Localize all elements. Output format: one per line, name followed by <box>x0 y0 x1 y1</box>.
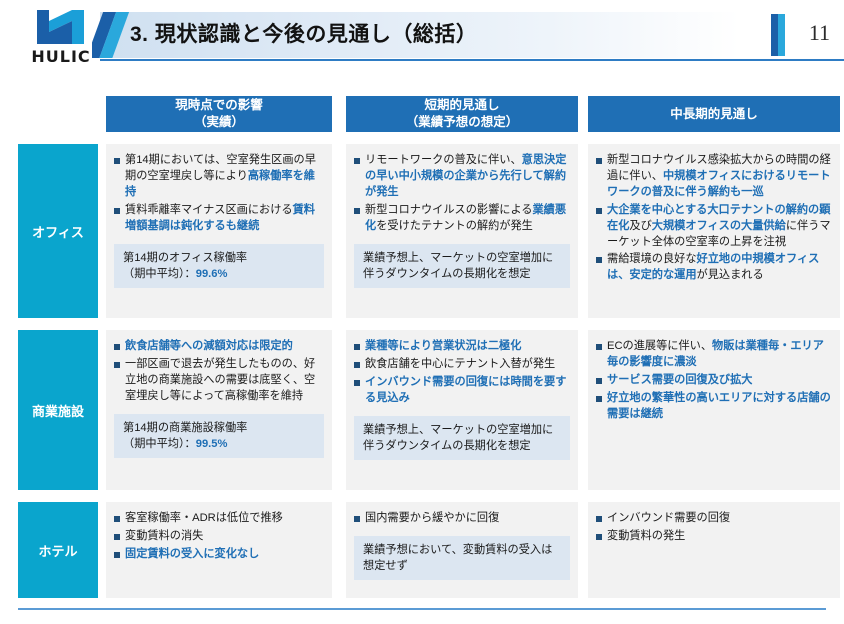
note-text: 業績予想上、マーケットの空室増加に伴うダウンタイムの長期化を想定 <box>363 424 553 452</box>
note-text: 業績予想上、マーケットの空室増加に伴うダウンタイムの長期化を想定 <box>363 252 553 280</box>
bullet-item: インバウンド需要の回復には時間を要する見込み <box>354 375 570 407</box>
row-label-commercial: 商業施設 <box>18 330 98 490</box>
bullet-item: 業種等により営業状況は二極化 <box>354 339 570 355</box>
highlighted-text: 飲食店舗等への減額対応は限定的 <box>125 340 293 352</box>
highlighted-text: 好立地の繁華性の高いエリアに対する店舗の需要は継続 <box>607 392 831 420</box>
bullet-item: 固定賃料の受入に変化なし <box>114 547 324 563</box>
bullet-item: 大企業を中心とする大口テナントの解約の顕在化及び大規模オフィスの大量供給に伴うマ… <box>596 203 832 251</box>
column-header-current-impact: 現時点での影響 （実績） <box>106 96 332 132</box>
bullet-list: 業種等により営業状況は二極化飲食店舗を中心にテナント入替が発生インバウンド需要の… <box>354 339 570 407</box>
body-text: 変動賃料の消失 <box>125 530 203 542</box>
bullet-item: ECの進展等に伴い、物販は業種毎・エリア毎の影響度に濃淡 <box>596 339 832 371</box>
bullet-item: リモートワークの普及に伴い、意思決定の早い中小規模の企業から先行して解約が発生 <box>354 153 570 201</box>
hulic-h-mark-icon <box>36 8 86 46</box>
note-text: 第14期のオフィス稼働率 <box>123 252 247 264</box>
bullet-item: 変動賃料の消失 <box>114 529 324 545</box>
page-number: 11 <box>809 20 830 46</box>
body-text: 賃料乖離率マイナス区画における <box>125 204 293 216</box>
column-header-line1: 現時点での影響 <box>175 97 263 114</box>
body-text: 客室稼働率・ADRは低位で推移 <box>125 512 283 524</box>
bullet-list: 飲食店舗等への減額対応は限定的一部区画で退去が発生したものの、好立地の商業施設へ… <box>114 339 324 405</box>
bullet-item: 客室稼働率・ADRは低位で推移 <box>114 511 324 527</box>
callout-note: 業績予想上、マーケットの空室増加に伴うダウンタイムの長期化を想定 <box>354 416 570 460</box>
callout-note: 業績予想上、マーケットの空室増加に伴うダウンタイムの長期化を想定 <box>354 244 570 288</box>
highlighted-text: インバウンド需要の回復には時間を要する見込み <box>365 376 566 404</box>
slide-header: HULIC 3. 現状認識と今後の見通し（総括） 11 <box>0 0 844 78</box>
bullet-item: 国内需要から緩やかに回復 <box>354 511 570 527</box>
body-text: 変動賃料の発生 <box>607 530 685 542</box>
note-text: （期中平均）： <box>123 268 196 280</box>
table-cell: 新型コロナウイルス感染拡大からの時間の経過に伴い、中規模オフィスにおけるリモート… <box>588 144 840 318</box>
bullet-item: 飲食店舗を中心にテナント入替が発生 <box>354 357 570 373</box>
column-header-short-term: 短期的見通し （業績予想の想定） <box>346 96 578 132</box>
callout-note: 業績予想において、変動賃料の受入は想定せず <box>354 536 570 580</box>
table-cell: 飲食店舗等への減額対応は限定的一部区画で退去が発生したものの、好立地の商業施設へ… <box>106 330 332 490</box>
table-cell: 第14期においては、空室発生区画の早期の空室埋戻し等により高稼働率を維持賃料乖離… <box>106 144 332 318</box>
bullet-item: 新型コロナウイルスの影響による業績悪化を受けたテナントの解約が発生 <box>354 203 570 235</box>
table-cell: 客室稼働率・ADRは低位で推移変動賃料の消失固定賃料の受入に変化なし <box>106 502 332 598</box>
bullet-item: 変動賃料の発生 <box>596 529 832 545</box>
occupancy-rate-value: 99.5% <box>196 438 228 450</box>
occupancy-rate-value: 99.6% <box>196 268 228 280</box>
highlighted-text: サービス需要の回復及び拡大 <box>607 374 752 386</box>
bullet-list: リモートワークの普及に伴い、意思決定の早い中小規模の企業から先行して解約が発生新… <box>354 153 570 235</box>
bullet-item: インバウンド需要の回復 <box>596 511 832 527</box>
table-cell: 国内需要から緩やかに回復業績予想において、変動賃料の受入は想定せず <box>346 502 578 598</box>
table-cell: ECの進展等に伴い、物販は業種毎・エリア毎の影響度に濃淡サービス需要の回復及び拡… <box>588 330 840 490</box>
highlighted-text: 業種等により営業状況は二極化 <box>365 340 521 352</box>
bullet-item: 新型コロナウイルス感染拡大からの時間の経過に伴い、中規模オフィスにおけるリモート… <box>596 153 832 201</box>
note-text: 第14期の商業施設稼働率 <box>123 422 247 434</box>
body-text: が見込まれる <box>697 269 764 281</box>
body-text: インバウンド需要の回復 <box>607 512 730 524</box>
callout-note: 第14期の商業施設稼働率（期中平均）：99.5% <box>114 414 324 458</box>
highlighted-text: 大規模オフィスの大量供給 <box>652 220 786 232</box>
bullet-item: 飲食店舗等への減額対応は限定的 <box>114 339 324 355</box>
bullet-list: 新型コロナウイルス感染拡大からの時間の経過に伴い、中規模オフィスにおけるリモート… <box>596 153 832 284</box>
body-text: を受けたテナントの解約が発生 <box>376 220 533 232</box>
bullet-item: 一部区画で退去が発生したものの、好立地の商業施設への需要は底堅く、空室埋戻し等に… <box>114 357 324 405</box>
hulic-logo-text: HULIC <box>22 47 100 66</box>
row-label-office: オフィス <box>18 144 98 318</box>
bullet-list: 客室稼働率・ADRは低位で推移変動賃料の消失固定賃料の受入に変化なし <box>114 511 324 563</box>
bullet-item: 第14期においては、空室発生区画の早期の空室埋戻し等により高稼働率を維持 <box>114 153 324 201</box>
table-cell: リモートワークの普及に伴い、意思決定の早い中小規模の企業から先行して解約が発生新… <box>346 144 578 318</box>
body-text: 需給環境の良好な <box>607 253 697 265</box>
bullet-item: サービス需要の回復及び拡大 <box>596 373 832 389</box>
body-text: 飲食店舗を中心にテナント入替が発生 <box>365 358 555 370</box>
footer-rule <box>18 608 826 610</box>
title-underline <box>100 59 844 61</box>
page-title: 3. 現状認識と今後の見通し（総括） <box>130 18 477 48</box>
bullet-list: 国内需要から緩やかに回復 <box>354 511 570 527</box>
bullet-list: ECの進展等に伴い、物販は業種毎・エリア毎の影響度に濃淡サービス需要の回復及び拡… <box>596 339 832 423</box>
body-text: 及び <box>629 220 651 232</box>
body-text: 一部区画で退去が発生したものの、好立地の商業施設への需要は底堅く、空室埋戻し等に… <box>125 358 315 402</box>
table-cell: インバウンド需要の回復変動賃料の発生 <box>588 502 840 598</box>
highlighted-text: 固定賃料の受入に変化なし <box>125 548 259 560</box>
note-text: （期中平均）： <box>123 438 196 450</box>
column-header-line1: 中長期的見通し <box>670 106 758 123</box>
body-text: ECの進展等に伴い、 <box>607 340 712 352</box>
bullet-item: 賃料乖離率マイナス区画における賃料増額基調は鈍化するも継続 <box>114 203 324 235</box>
column-header-mid-long-term: 中長期的見通し <box>588 96 840 132</box>
bullet-item: 好立地の繁華性の高いエリアに対する店舗の需要は継続 <box>596 391 832 423</box>
row-label-hotel: ホテル <box>18 502 98 598</box>
bullet-list: 第14期においては、空室発生区画の早期の空室埋戻し等により高稼働率を維持賃料乖離… <box>114 153 324 235</box>
column-header-line1: 短期的見通し <box>424 97 499 114</box>
bullet-list: インバウンド需要の回復変動賃料の発生 <box>596 511 832 545</box>
bullet-item: 需給環境の良好な好立地の中規模オフィスは、安定的な運用が見込まれる <box>596 252 832 284</box>
body-text: 新型コロナウイルスの影響による <box>365 204 532 216</box>
callout-note: 第14期のオフィス稼働率（期中平均）：99.6% <box>114 244 324 288</box>
body-text: リモートワークの普及に伴い、 <box>365 154 522 166</box>
column-header-line2: （業績予想の想定） <box>406 114 519 131</box>
table-cell: 業種等により営業状況は二極化飲食店舗を中心にテナント入替が発生インバウンド需要の… <box>346 330 578 490</box>
column-header-line2: （実績） <box>194 114 244 131</box>
note-text: 業績予想において、変動賃料の受入は想定せず <box>363 544 552 572</box>
page-number-marker <box>771 14 786 56</box>
body-text: 国内需要から緩やかに回復 <box>365 512 499 524</box>
hulic-logo: HULIC <box>22 8 100 68</box>
